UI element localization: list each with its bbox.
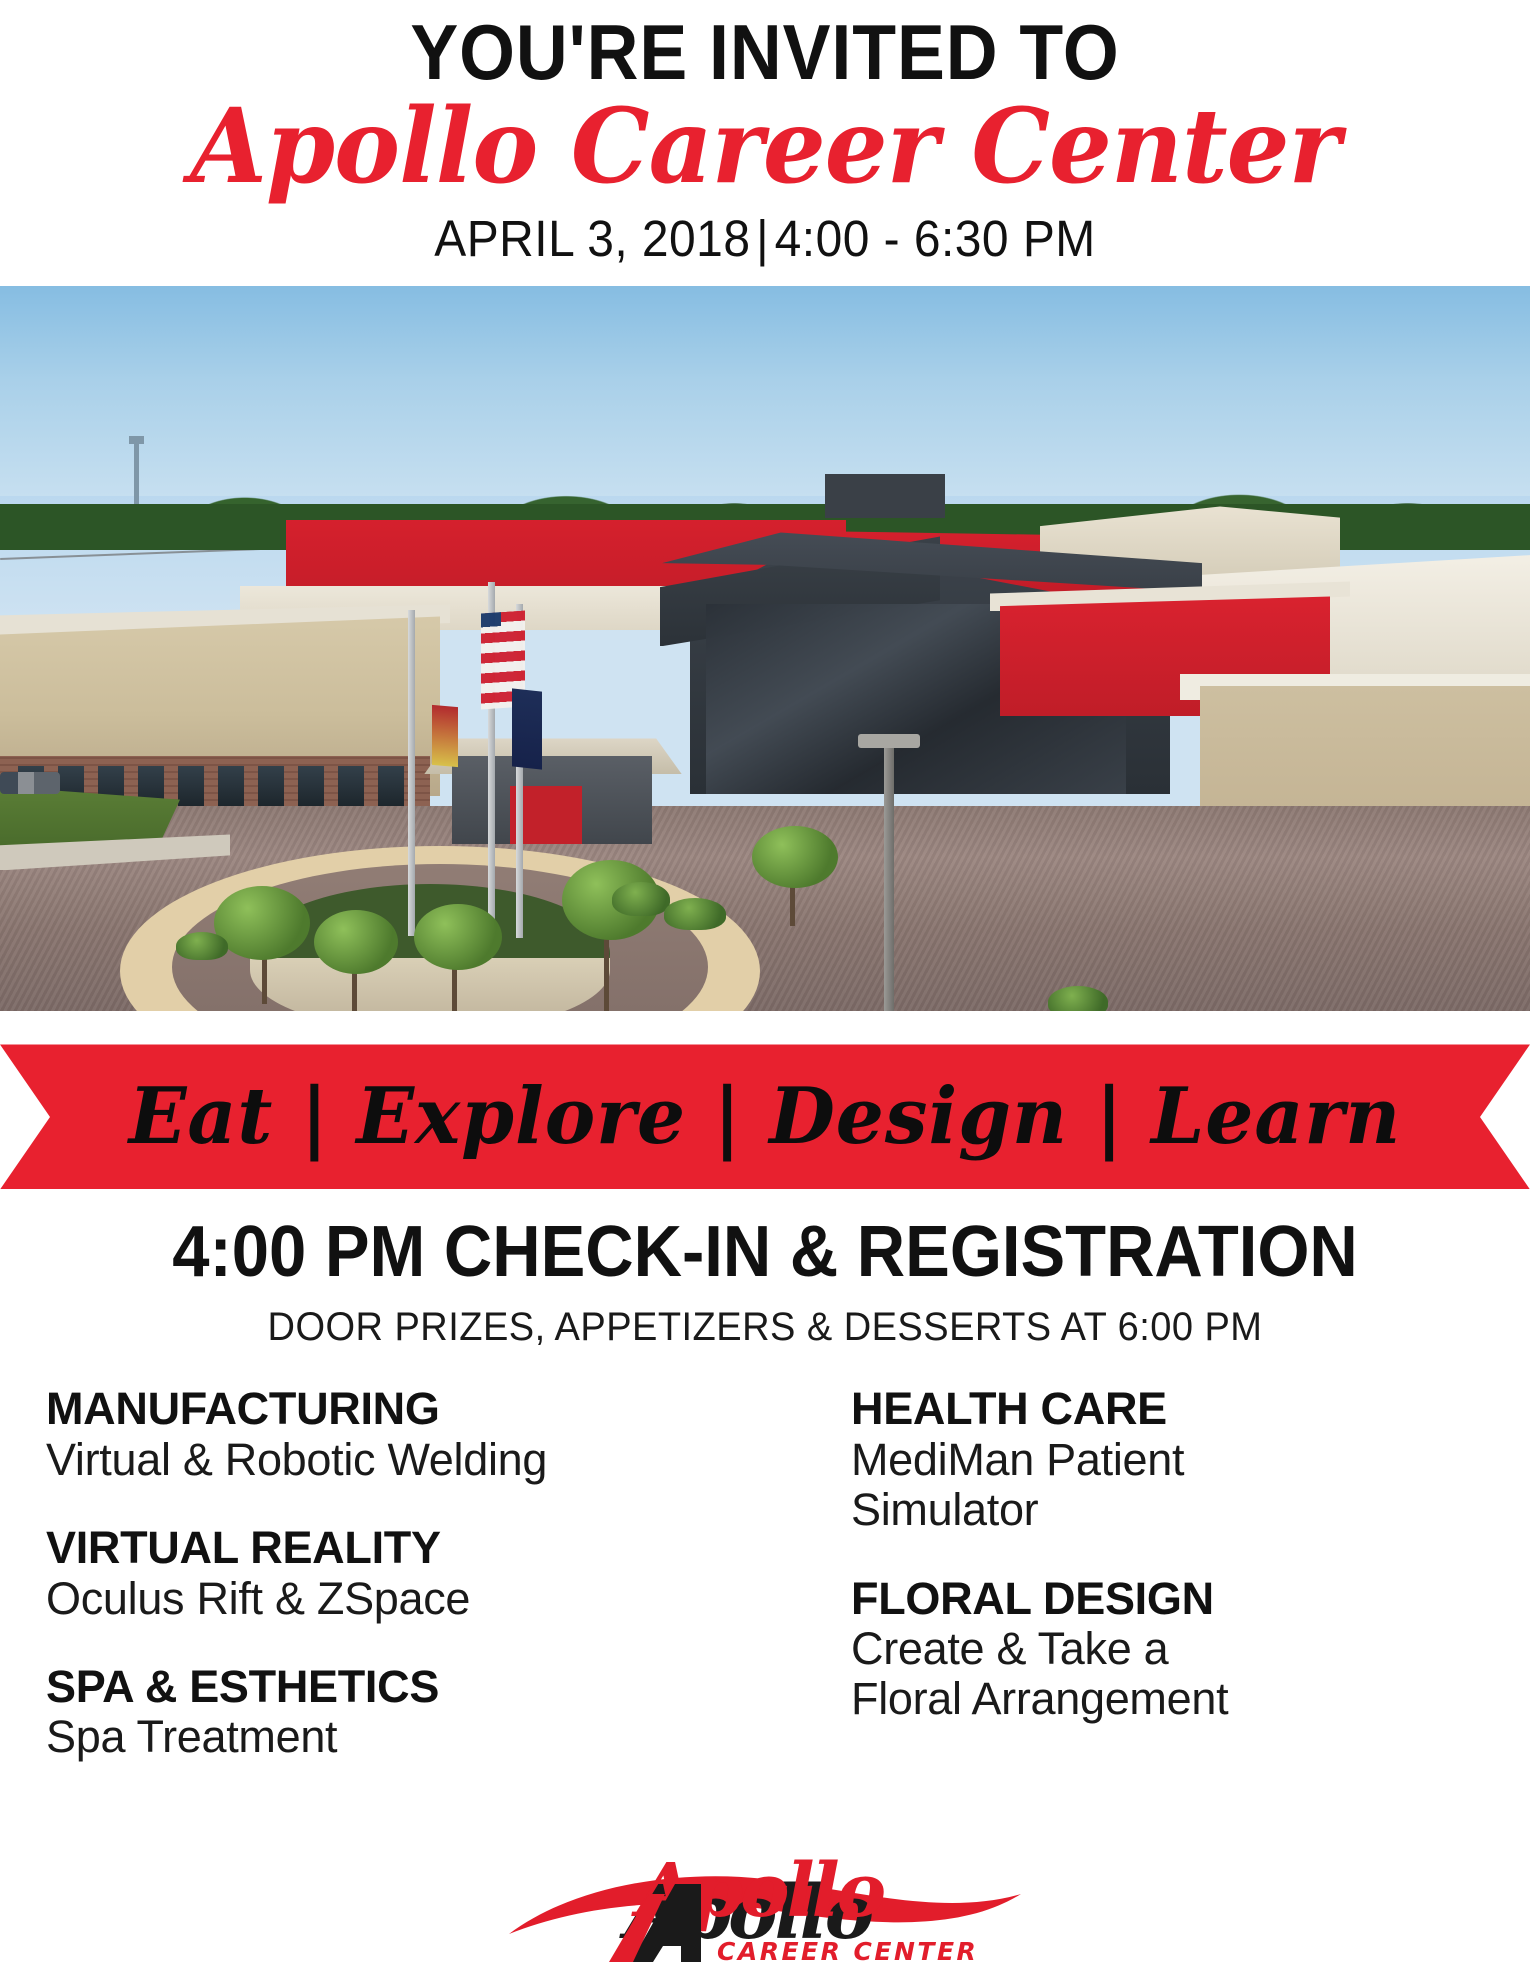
activity-item: VIRTUAL REALITY Oculus Rift & ZSpace [46, 1523, 765, 1624]
invited-headline: YOU'RE INVITED TO [61, 14, 1469, 90]
activities-ribbon: Eat | Explore | Design | Learn [0, 1044, 1530, 1189]
shrub [1048, 986, 1108, 1011]
activity-title: VIRTUAL REALITY [46, 1523, 765, 1573]
shrub [176, 932, 228, 960]
logo-tagline-text: CAREER CENTER [717, 1937, 978, 1966]
activity-item: HEALTH CARE MediMan Patient Simulator [851, 1384, 1484, 1535]
activity-title: MANUFACTURING [46, 1384, 765, 1434]
light-fixture [858, 734, 920, 748]
activity-desc: MediMan Patient Simulator [851, 1435, 1484, 1536]
event-time: 4:00 - 6:30 PM [775, 210, 1096, 267]
activity-title: FLORAL DESIGN [851, 1574, 1484, 1624]
parked-cars [0, 772, 60, 794]
ohio-flag [432, 705, 458, 767]
campus-photo [0, 286, 1530, 1011]
light-pole [884, 738, 894, 1011]
activity-item: FLORAL DESIGN Create & Take a Floral Arr… [851, 1574, 1484, 1725]
activity-item: SPA & ESTHETICS Spa Treatment [46, 1662, 765, 1763]
plaza-tree-1 [214, 886, 310, 960]
flagpole-left [408, 610, 415, 936]
activities-columns: MANUFACTURING Virtual & Robotic Welding … [0, 1384, 1530, 1762]
apollo-logo-mark: Apollo Apollo CAREER CENTER [505, 1850, 1025, 1970]
shrub [664, 898, 726, 930]
activity-desc: Virtual & Robotic Welding [46, 1435, 765, 1485]
ribbon-label: Eat | Explore | Design | Learn [23, 1044, 1507, 1189]
activity-item: MANUFACTURING Virtual & Robotic Welding [46, 1384, 765, 1485]
activity-title: SPA & ESTHETICS [46, 1662, 765, 1712]
date-time-separator: | [750, 209, 774, 268]
pow-mia-flag [512, 689, 542, 770]
event-date: APRIL 3, 2018 [434, 210, 750, 267]
activity-title: HEALTH CARE [851, 1384, 1484, 1434]
activity-desc: Oculus Rift & ZSpace [46, 1574, 765, 1624]
activities-column-right: HEALTH CARE MediMan Patient Simulator FL… [765, 1384, 1484, 1762]
shrub [612, 882, 670, 916]
event-title: Apollo Career Center [31, 94, 1500, 199]
checkin-headline: 4:00 PM CHECK-IN & REGISTRATION [54, 1211, 1477, 1293]
activities-column-left: MANUFACTURING Virtual & Robotic Welding … [46, 1384, 765, 1762]
activity-desc: Create & Take a Floral Arrangement [851, 1624, 1484, 1725]
rooftop-unit [825, 474, 945, 518]
event-datetime: APRIL 3, 2018|4:00 - 6:30 PM [46, 209, 1484, 268]
flyer-header: YOU'RE INVITED TO Apollo Career Center A… [0, 0, 1530, 268]
door-prizes-subline: DOOR PRIZES, APPETIZERS & DESSERTS AT 6:… [38, 1305, 1492, 1350]
activity-desc: Spa Treatment [46, 1712, 765, 1762]
planter-retaining-wall [250, 958, 610, 1011]
apollo-logo: Apollo Apollo CAREER CENTER [0, 1846, 1530, 1974]
